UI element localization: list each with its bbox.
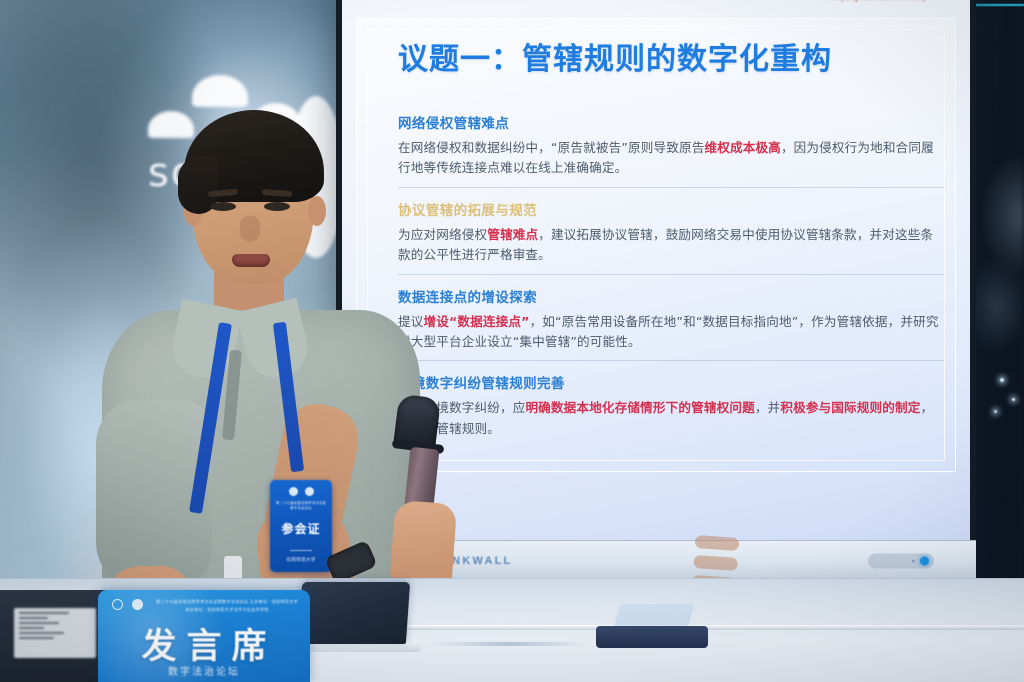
body-text: ，并 bbox=[755, 400, 781, 415]
nose bbox=[240, 216, 260, 242]
slide-section: 协议管辖的拓展与规范 为应对网络侵权管辖难点，建议拓展协议管辖，鼓励网络交易中使… bbox=[398, 187, 944, 266]
slide-section-body: 在网络侵权和数据纠纷中，“原告就被告”原则导致原告维权成本极高，因为侵权行为地和… bbox=[398, 138, 944, 179]
bezel-indicator-small-icon bbox=[912, 559, 915, 562]
badge-emblem-icon bbox=[289, 487, 298, 496]
badge-icons bbox=[289, 487, 314, 496]
slide-section: 数据连接点的增设探索 提议增设“数据连接点”，如“原告常用设备所在地”和“数据目… bbox=[398, 274, 944, 353]
slide-section-heading: 跨境数字纠纷管辖规则完善 bbox=[398, 372, 944, 392]
equipment-label bbox=[14, 608, 96, 658]
hair bbox=[184, 110, 324, 202]
placard-emblem-icon bbox=[112, 599, 123, 610]
body-text: 在网络侵权和数据纠纷中，“原告就被告”原则导致原告 bbox=[398, 140, 704, 155]
slide-section-body: 提议增设“数据连接点”，如“原告常用设备所在地”和“数据目标指向地”，作为管辖依… bbox=[398, 312, 944, 353]
ear-right bbox=[308, 196, 326, 226]
badge-top-text: 第二十七届全国法院学术讨论会 数字法治论坛 bbox=[274, 501, 328, 511]
laptop-lid bbox=[298, 582, 410, 644]
badge-bottom-text: 信阳师范大学 bbox=[286, 557, 315, 563]
placard-top-text: 第二十七届全国法院学术讨论会暨数字法治论坛 主办单位：信阳师范大学 承办单位：信… bbox=[154, 598, 300, 614]
speaker-placard: 第二十七届全国法院学术讨论会暨数字法治论坛 主办单位：信阳师范大学 承办单位：信… bbox=[98, 590, 310, 682]
power-indicator-icon[interactable] bbox=[920, 556, 929, 565]
badge-main-text: 参会证 bbox=[281, 520, 320, 537]
eye-left bbox=[210, 202, 236, 211]
body-highlight: 管辖难点 bbox=[487, 227, 538, 242]
slide-content: 议题一：管辖规则的数字化重构 网络侵权管辖难点 在网络侵权和数据纠纷中，“原告就… bbox=[398, 34, 944, 447]
slide-section-heading: 协议管辖的拓展与规范 bbox=[398, 199, 944, 219]
placard-icons bbox=[112, 599, 143, 610]
mouth bbox=[232, 254, 270, 267]
sparkle-dot bbox=[994, 410, 997, 413]
placard-main-text: 发言席 bbox=[98, 618, 310, 669]
university-logo: 信阳师范大学 Xinyang Normal University bbox=[812, 0, 944, 2]
slide-section: 网络侵权管辖难点 在网络侵权和数据纠纷中，“原告就被告”原则导致原告维权成本极高… bbox=[398, 112, 944, 179]
body-highlight: 明确数据本地化存储情形下的管辖权问题 bbox=[525, 400, 754, 415]
desk-device bbox=[596, 626, 708, 648]
slide-section-body: 为应对网络侵权管辖难点，建议拓展协议管辖，鼓励网络交易中使用协议管辖条款，并对这… bbox=[398, 225, 944, 266]
slide-section: 跨境数字纠纷管辖规则完善 针对跨境数字纠纷，应明确数据本地化存储情形下的管辖权问… bbox=[398, 360, 944, 439]
body-highlight: 积极参与国际规则的制定 bbox=[780, 400, 920, 415]
slide-title: 议题一：管辖规则的数字化重构 bbox=[398, 34, 944, 78]
slide-section-heading: 数据连接点的增设探索 bbox=[398, 286, 944, 306]
sparkle-dot bbox=[1000, 378, 1004, 382]
body-highlight: 维权成本极高 bbox=[704, 140, 780, 155]
slide-section-body: 针对跨境数字纠纷，应明确数据本地化存储情形下的管辖权问题，并积极参与国际规则的制… bbox=[398, 398, 944, 439]
presentation-photo-scene: social 信阳师范大学 Xinyang Normal University … bbox=[0, 0, 1024, 682]
sparkle-dot bbox=[1012, 398, 1015, 401]
desk-seam bbox=[430, 642, 590, 646]
person-glyph bbox=[192, 78, 248, 107]
display-control-panel[interactable] bbox=[868, 553, 934, 568]
badge-emblem-filled-icon bbox=[305, 487, 314, 496]
placard-bottom-text: 数字法治论坛 bbox=[98, 663, 310, 678]
university-logo-english: Xinyang Normal University bbox=[812, 0, 944, 2]
slide-section-heading: 网络侵权管辖难点 bbox=[398, 112, 944, 132]
body-highlight: 增设“数据连接点” bbox=[424, 314, 530, 329]
placard-emblem-filled-icon bbox=[132, 599, 143, 610]
conference-badge: 第二十七届全国法院学术讨论会 数字法治论坛 参会证 信阳师范大学 bbox=[270, 480, 332, 572]
badge-divider bbox=[290, 550, 312, 551]
eye-right bbox=[264, 202, 290, 211]
